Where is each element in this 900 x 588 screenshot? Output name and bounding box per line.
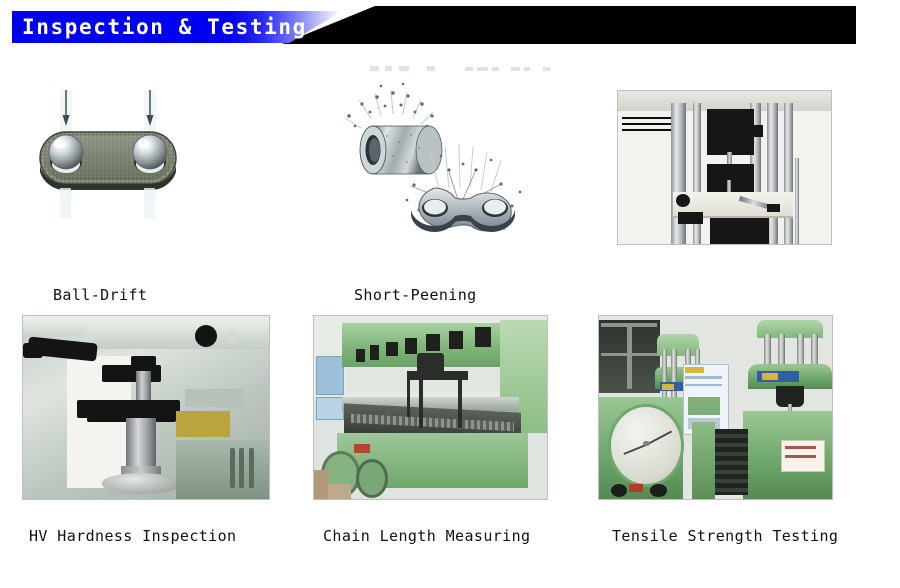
caption-hv-hardness-inspection: HV Hardness Inspection	[29, 527, 236, 545]
tensile-machines-scene	[599, 316, 832, 499]
page-title: Inspection & Testing	[22, 12, 307, 42]
dial-gauge	[608, 404, 684, 487]
ball-drift-svg	[18, 60, 283, 260]
page-header: Inspection & Testing	[0, 0, 900, 52]
grid-cell-chain-length-measuring[interactable]: Chain Length Measuring	[313, 315, 548, 500]
tensile-strength-testing-photo	[598, 315, 833, 500]
caption-chain-length-measuring: Chain Length Measuring	[323, 527, 530, 545]
grid-cell-short-peening[interactable]: Short-Peening	[315, 60, 580, 260]
caption-short-peening: Short-Peening	[354, 286, 477, 304]
caption-ball-drift: Ball-Drift	[53, 286, 147, 304]
grid-cell-ball-drift[interactable]: Ball-Drift	[18, 60, 283, 260]
hv-hardness-inspection-photo	[22, 315, 270, 500]
grid-cell-tensile-strength-testing[interactable]: Tensile Strength Testing	[598, 315, 833, 500]
grid-cell-push-off-force-testing[interactable]: Push Off Force Testing	[617, 90, 832, 245]
hv-tester-scene	[23, 316, 269, 499]
push-off-force-testing-photo	[617, 90, 832, 245]
push-off-machine-scene	[618, 91, 831, 244]
chain-length-measuring-photo	[313, 315, 548, 500]
grid-cell-hv-hardness-inspection[interactable]: HV Hardness Inspection	[22, 315, 270, 500]
short-peening-illustration	[315, 60, 580, 260]
chain-measuring-scene	[314, 316, 547, 499]
short-peening-svg	[315, 60, 580, 260]
ball-drift-illustration	[18, 60, 283, 260]
caption-tensile-strength-testing: Tensile Strength Testing	[612, 527, 838, 545]
